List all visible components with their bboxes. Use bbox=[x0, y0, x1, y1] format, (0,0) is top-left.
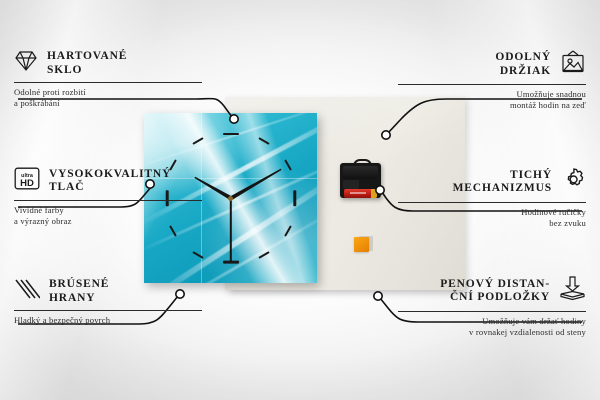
clock-center-hub bbox=[228, 196, 233, 201]
feature-title: ODOLNÝDRŽIAK bbox=[495, 51, 551, 78]
feature-high-quality-print[interactable]: ultra HD VYSOKOKVALITNÝTLAČ Vividné farb… bbox=[14, 167, 202, 227]
feature-durable-hanger[interactable]: ODOLNÝDRŽIAK Umožňuje snadnoumontáž hodi… bbox=[398, 50, 586, 111]
feature-title: VYSOKOKVALITNÝTLAČ bbox=[49, 168, 171, 195]
feature-divider bbox=[398, 202, 586, 203]
feature-divider bbox=[14, 82, 202, 83]
feature-description: Umožňuje snadnoumontáž hodin na zeď bbox=[398, 89, 586, 111]
clock-mechanism bbox=[340, 159, 381, 198]
mechanism-body bbox=[340, 163, 381, 198]
feature-divider bbox=[14, 310, 202, 311]
feature-header: ultra HD VYSOKOKVALITNÝTLAČ bbox=[14, 167, 202, 195]
feature-divider bbox=[14, 200, 202, 201]
feature-description: Hodinové ručičkybez zvuku bbox=[398, 207, 586, 229]
feature-description: Vividné farbya výrazný obraz bbox=[14, 205, 202, 227]
clock-second-hand bbox=[230, 198, 232, 262]
ultra-hd-icon: ultra HD bbox=[14, 167, 40, 195]
clock-tick bbox=[223, 133, 239, 136]
feature-header: TICHÝMECHANIZMUS bbox=[398, 167, 586, 197]
feature-description: Hladký a bezpečný povrch bbox=[14, 315, 202, 326]
feature-description: Odolné proti rozbitía poškrábání bbox=[14, 87, 202, 109]
feature-header: HARTOVANÉSKLO bbox=[14, 50, 202, 77]
battery bbox=[344, 189, 377, 198]
feature-polished-edges[interactable]: BRÚSENÉHRANY Hladký a bezpečný povrch bbox=[14, 278, 202, 326]
feature-divider bbox=[398, 84, 586, 85]
svg-text:HD: HD bbox=[20, 178, 34, 189]
feature-header: BRÚSENÉHRANY bbox=[14, 278, 202, 305]
clock-tick bbox=[293, 190, 296, 206]
picture-frame-hanger-icon bbox=[560, 50, 586, 79]
feature-title: HARTOVANÉSKLO bbox=[47, 50, 127, 77]
feature-header: ODOLNÝDRŽIAK bbox=[398, 50, 586, 79]
feature-header: PENOVÝ DISTAN-ČNÍ PODLOŽKY bbox=[398, 276, 586, 306]
feature-foam-spacers[interactable]: PENOVÝ DISTAN-ČNÍ PODLOŽKY Umožňuje vám … bbox=[398, 276, 586, 338]
feature-title: BRÚSENÉHRANY bbox=[49, 278, 109, 305]
foam-spacer-pad bbox=[354, 235, 370, 251]
infographic-canvas: HARTOVANÉSKLO Odolné proti rozbitía pošk… bbox=[0, 0, 600, 400]
feature-tempered-glass[interactable]: HARTOVANÉSKLO Odolné proti rozbitía pošk… bbox=[14, 50, 202, 109]
feature-description: Umožňuje vám držať hodinyv rovnakej vzdi… bbox=[398, 316, 586, 338]
diamond-icon bbox=[14, 50, 38, 77]
gear-icon bbox=[561, 167, 586, 197]
feature-silent-mechanism[interactable]: TICHÝMECHANIZMUS Hodinové ručičkybez zvu… bbox=[398, 167, 586, 229]
feature-divider bbox=[398, 311, 586, 312]
diagonal-lines-icon bbox=[14, 278, 40, 305]
feature-title: PENOVÝ DISTAN-ČNÍ PODLOŽKY bbox=[440, 278, 550, 305]
arrow-down-stack-icon bbox=[559, 276, 586, 306]
feature-title: TICHÝMECHANIZMUS bbox=[453, 169, 552, 196]
